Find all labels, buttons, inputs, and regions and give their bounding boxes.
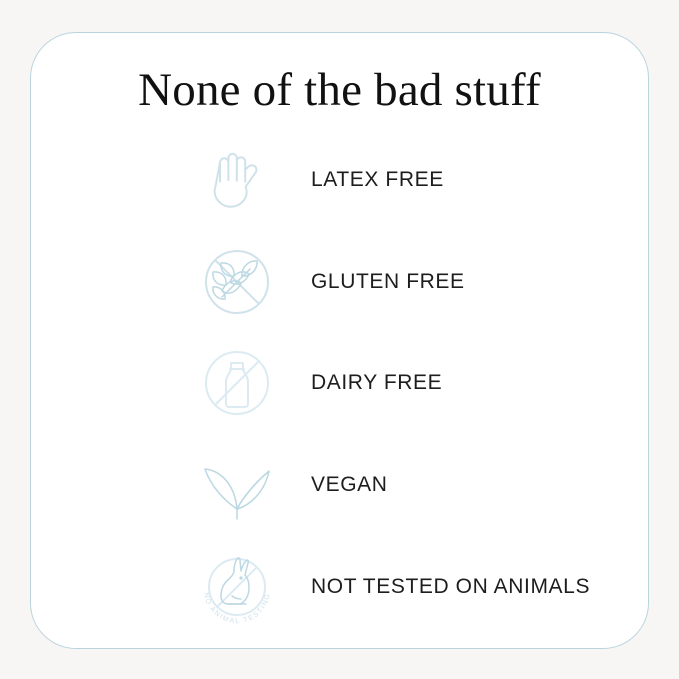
page-root: None of the bad stuff LATEX FREE [0, 0, 679, 679]
no-animal-testing-rabbit-icon: NO ANIMAL TESTING [195, 545, 279, 629]
leaf-sprout-icon [195, 443, 279, 527]
claim-label: NOT TESTED ON ANIMALS [311, 575, 590, 599]
hand-icon [195, 138, 279, 222]
claims-list: LATEX FREE [31, 129, 648, 638]
claim-label: DAIRY FREE [311, 371, 442, 395]
no-dairy-bottle-icon [195, 341, 279, 425]
page-title: None of the bad stuff [31, 63, 648, 117]
claim-label: VEGAN [311, 473, 388, 497]
claim-row-latex-free: LATEX FREE [31, 129, 648, 231]
no-gluten-wheat-icon [195, 240, 279, 324]
claim-row-dairy-free: DAIRY FREE [31, 333, 648, 435]
claim-row-gluten-free: GLUTEN FREE [31, 231, 648, 333]
claims-card: None of the bad stuff LATEX FREE [30, 32, 649, 649]
claim-row-not-tested-on-animals: NO ANIMAL TESTING NOT TESTED ON ANIMALS [31, 536, 648, 638]
claim-label: LATEX FREE [311, 168, 444, 192]
claim-label: GLUTEN FREE [311, 270, 465, 294]
badge-text: NO ANIMAL TESTING [202, 592, 272, 625]
badge-text-path: NO ANIMAL TESTING [202, 592, 272, 625]
claim-row-vegan: VEGAN [31, 434, 648, 536]
